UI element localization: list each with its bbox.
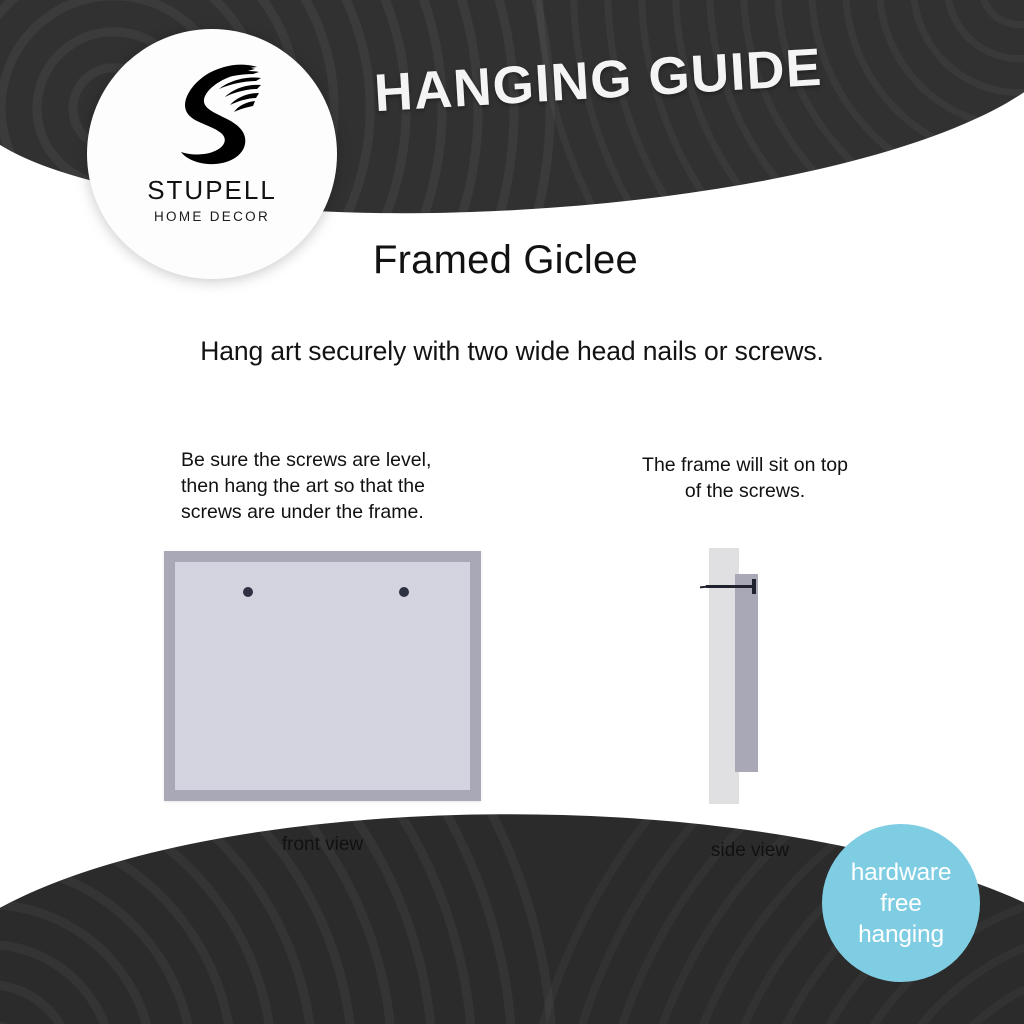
banner-swirl-texture-right	[486, 0, 1024, 235]
front-view-frame-diagram	[164, 551, 481, 801]
main-instruction-text: Hang art securely with two wide head nai…	[0, 336, 1024, 367]
front-view-label: front view	[164, 834, 481, 856]
nail-head-icon	[752, 579, 756, 594]
nail-shaft-icon	[706, 585, 754, 588]
brand-logo-badge: STUPELL HOME DECOR	[87, 29, 337, 279]
front-view-caption-line-2: then hang the art so that the	[181, 473, 481, 499]
stupell-swoosh-logo-icon	[147, 53, 277, 173]
side-view-frame-diagram	[690, 548, 810, 804]
badge-line-1: hardware	[851, 857, 952, 888]
hardware-free-hanging-badge: hardware free hanging	[822, 824, 980, 982]
front-view-caption-line-1: Be sure the screws are level,	[181, 447, 481, 473]
side-view-label: side view	[675, 840, 825, 862]
badge-line-3: hanging	[858, 919, 944, 950]
hanging-guide-page: HANGING GUIDE STUPELL HOME DECOR Framed …	[0, 0, 1024, 1024]
screw-dot-left-icon	[243, 587, 253, 597]
front-view-caption-line-3: screws are under the frame.	[181, 499, 481, 525]
front-view-frame-interior	[175, 562, 470, 790]
side-view-caption: The frame will sit on top of the screws.	[600, 452, 890, 504]
side-view-frame-profile	[735, 574, 758, 772]
brand-name: STUPELL	[147, 175, 277, 206]
front-view-caption: Be sure the screws are level, then hang …	[181, 447, 481, 525]
footer-swirl-texture-left	[0, 797, 605, 1024]
badge-line-2: free	[880, 888, 921, 919]
side-view-caption-line-2: of the screws.	[600, 478, 890, 504]
screw-dot-right-icon	[399, 587, 409, 597]
side-view-caption-line-1: The frame will sit on top	[600, 452, 890, 478]
brand-tagline: HOME DECOR	[154, 209, 270, 224]
product-type-title: Framed Giclee	[373, 238, 638, 283]
